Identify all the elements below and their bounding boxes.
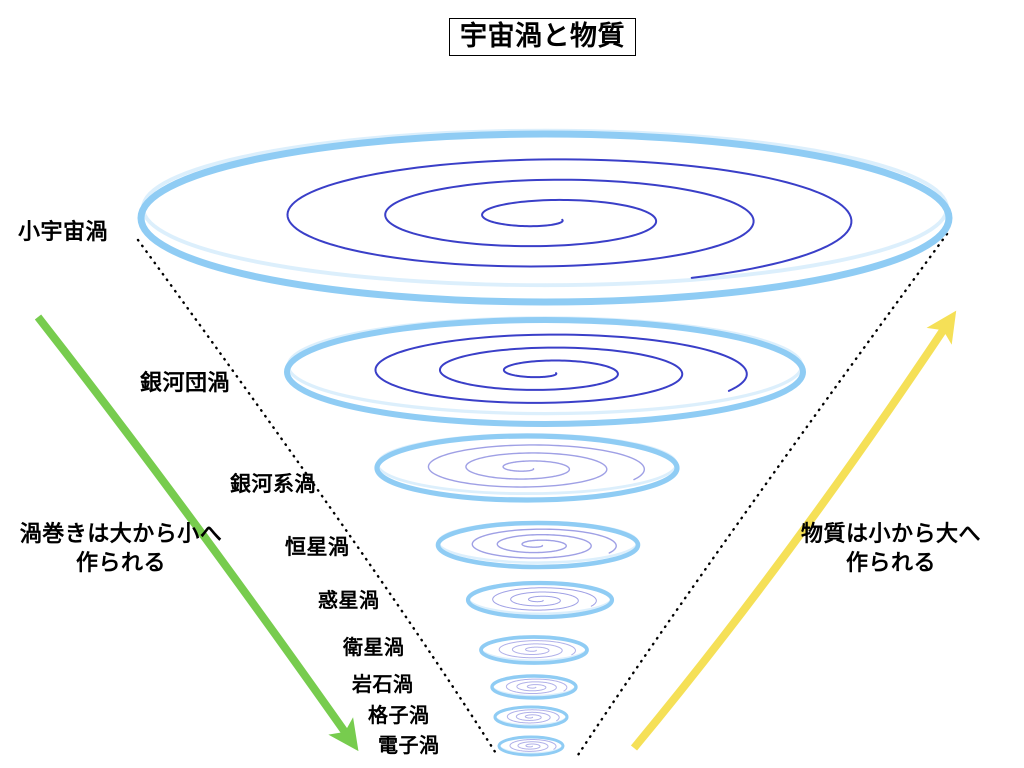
vortex-level-1: [287, 318, 803, 424]
vortex-level-4: [468, 582, 612, 617]
vortex-level-5: [481, 636, 587, 663]
vortex-spiral: [499, 641, 575, 658]
vortex-label-8: 電子渦: [378, 735, 440, 757]
vortex-level-0: [141, 131, 949, 302]
vortex-spiral: [472, 529, 616, 558]
vortex-spiral: [287, 159, 851, 278]
vortex-spiral: [507, 710, 559, 723]
vortex-label-6: 岩石渦: [352, 674, 414, 696]
vortex-spiral: [375, 335, 746, 403]
side-note-line: 作られる: [8, 548, 234, 577]
vortex-label-3: 恒星渦: [285, 536, 350, 559]
vortex-level-8: [499, 737, 563, 755]
vortex-level-2: [377, 435, 677, 500]
right-dotted-guide: [578, 234, 947, 755]
vortex-label-5: 衛星渦: [343, 637, 405, 659]
left-dotted-guide: [138, 240, 497, 755]
vortex-label-2: 銀河系渦: [230, 473, 316, 496]
vortex-label-4: 惑星渦: [318, 590, 380, 612]
vortex-spiral: [493, 588, 597, 610]
vortex-label-0: 小宇宙渦: [18, 220, 108, 244]
vortex-rings-layer: [141, 131, 949, 755]
vortex-ring-echo: [143, 131, 947, 286]
vortex-spiral: [510, 740, 556, 752]
vortex-label-7: 格子渦: [368, 705, 430, 727]
diagram-canvas: 宇宙渦と物質 小宇宙渦銀河団渦銀河系渦恒星渦惑星渦衛星渦岩石渦格子渦電子渦 渦巻…: [0, 0, 1024, 768]
vortex-level-7: [495, 707, 567, 727]
side-note-line: 渦巻きは大から小へ: [8, 519, 234, 548]
side-note-line: 物質は小から大へ: [786, 519, 996, 548]
side-note-vortex-direction: 渦巻きは大から小へ作られる: [8, 519, 234, 577]
vortex-spiral: [506, 679, 566, 693]
vortex-level-3: [438, 522, 638, 567]
vortex-label-1: 銀河団渦: [140, 371, 230, 395]
side-note-line: 作られる: [786, 548, 996, 577]
page-title: 宇宙渦と物質: [449, 18, 636, 56]
vortex-spiral: [428, 445, 644, 487]
vortex-level-6: [492, 676, 576, 698]
side-note-matter-direction: 物質は小から大へ作られる: [786, 519, 996, 577]
